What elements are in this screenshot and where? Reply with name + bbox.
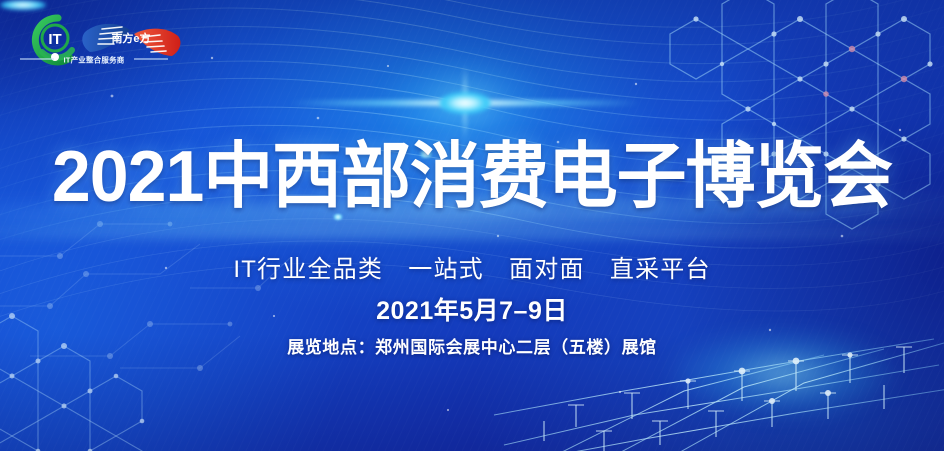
left-lens-flare-decor <box>0 0 46 10</box>
svg-text:IT: IT <box>48 31 61 48</box>
event-venue: 展览地点：郑州国际会展中心二层（五楼）展馆 <box>0 336 944 360</box>
logo-caption: IT产业整合服务商 <box>64 55 125 65</box>
logo-script-text: 南方e方 <box>111 31 150 45</box>
light-sweep-band-secondary <box>0 228 944 240</box>
page-title: 2021中西部消费电子博览会 <box>14 139 930 215</box>
event-banner: IT 南方e方 <box>0 0 944 451</box>
logo-caption-rule: IT产业整合服务商 <box>20 52 168 64</box>
event-date: 2021年5月7–9日 <box>0 296 944 326</box>
subtitle-tagline: IT行业全品类 一站式 面对面 直采平台 <box>0 255 944 285</box>
